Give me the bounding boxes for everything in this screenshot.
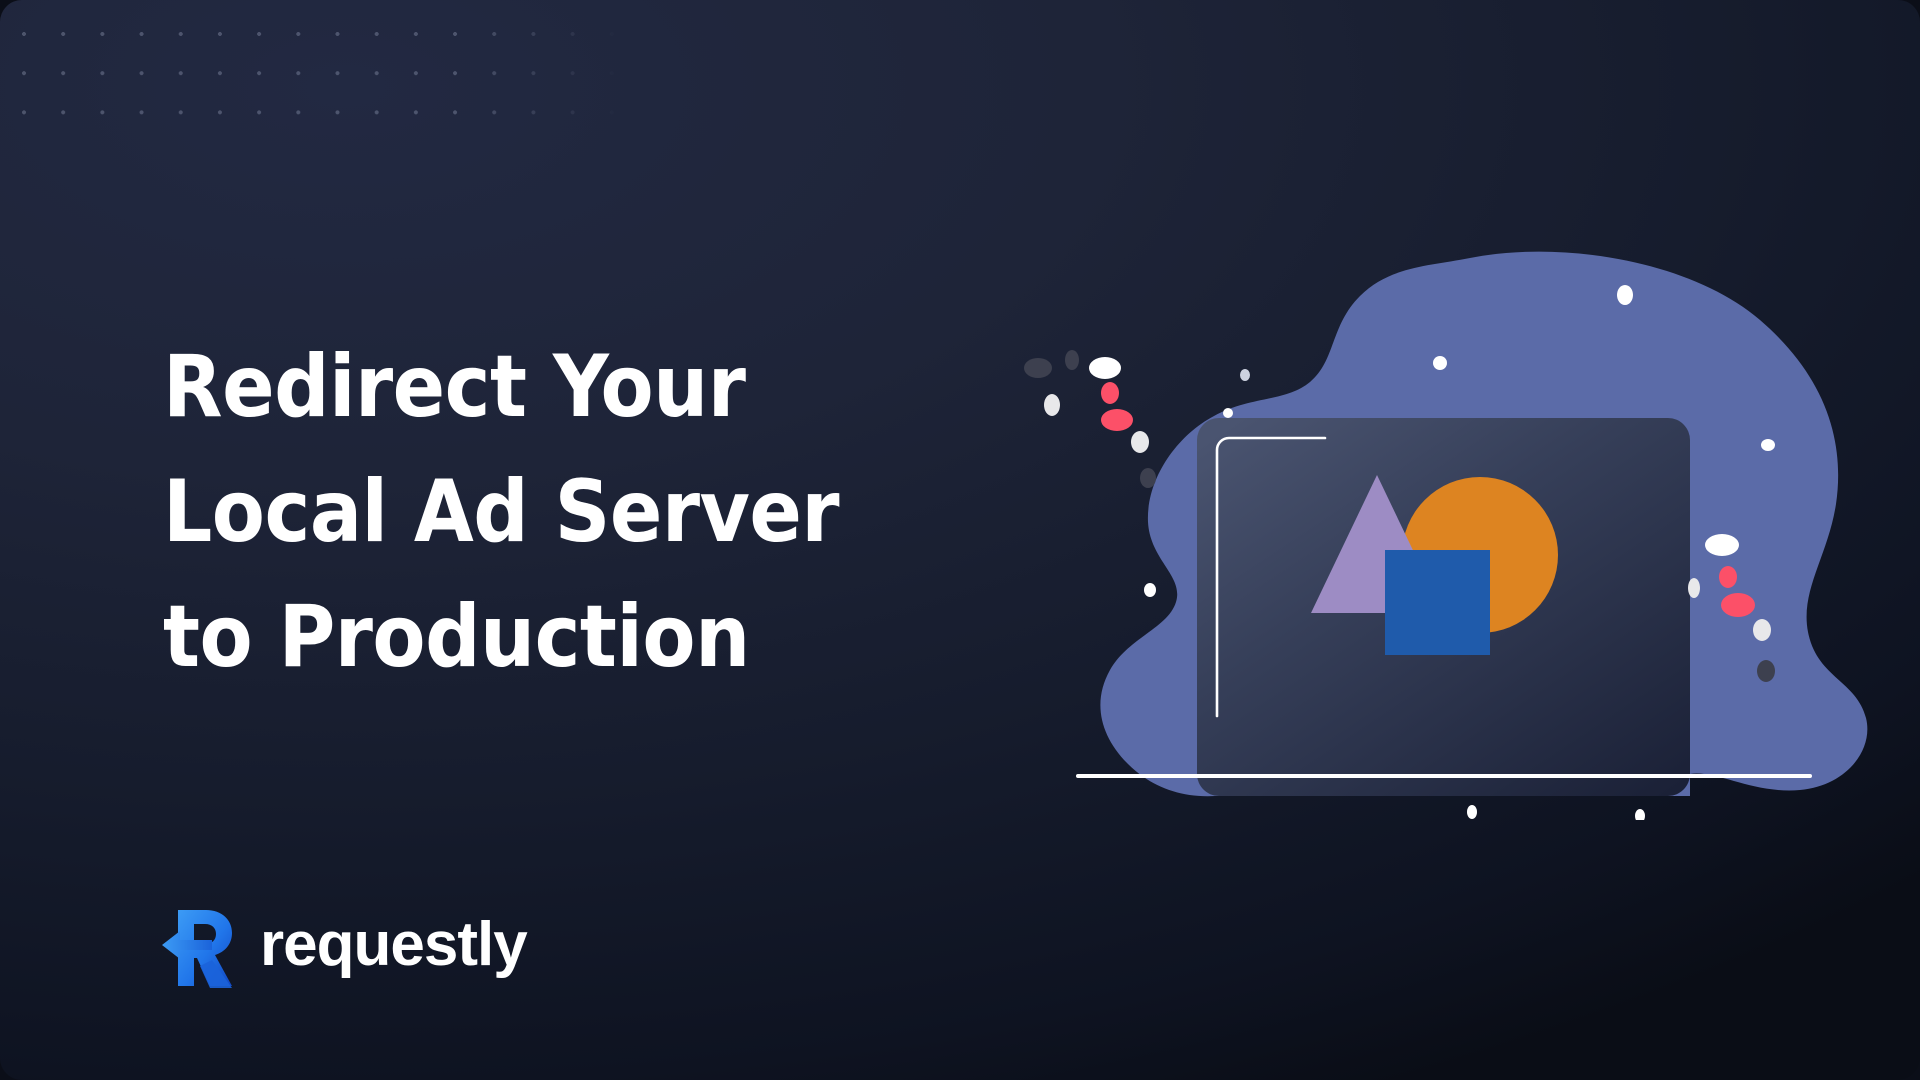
abstract-shapes-on-screen-illustration [1000,250,1900,820]
dot-light-gray [1753,619,1771,641]
dot-dark-gray [1757,660,1775,682]
page-title: Redirect Your Local Ad Server to Product… [163,325,983,700]
dot-white [1467,805,1477,819]
requestly-r-arrow-icon [160,900,238,990]
dot-light-gray [1240,369,1250,381]
dot-white [1433,356,1447,370]
dot-grid-pattern [22,32,622,142]
brand-logo-lockup[interactable]: requestly [160,900,527,990]
dot-white [1617,285,1633,305]
dot-light-gray [1044,394,1060,416]
dot-pink [1101,382,1119,404]
screen-card [1197,418,1690,796]
dot-pink [1721,593,1755,617]
dot-white [1223,408,1233,418]
brand-wordmark: requestly [260,914,527,976]
dot-white [1761,439,1775,451]
dot-pink [1719,566,1737,588]
dot-white [1705,534,1739,556]
dot-pink [1101,409,1133,431]
cover-canvas: Redirect Your Local Ad Server to Product… [0,0,1920,1080]
dot-dark-gray [1024,358,1052,378]
dot-white [1144,583,1156,597]
page-title-line-3: to Production [163,575,983,700]
card-base-line [1076,774,1812,778]
dot-light-gray [1688,578,1700,598]
dot-dark-gray [1140,468,1156,488]
dot-white [1635,809,1645,820]
dot-dark-gray [1065,350,1079,370]
page-title-line-1: Redirect Your [163,325,983,450]
page-title-line-2: Local Ad Server [163,450,983,575]
dot-light-gray [1131,431,1149,453]
dot-white [1089,357,1121,379]
square-shape [1385,550,1490,655]
